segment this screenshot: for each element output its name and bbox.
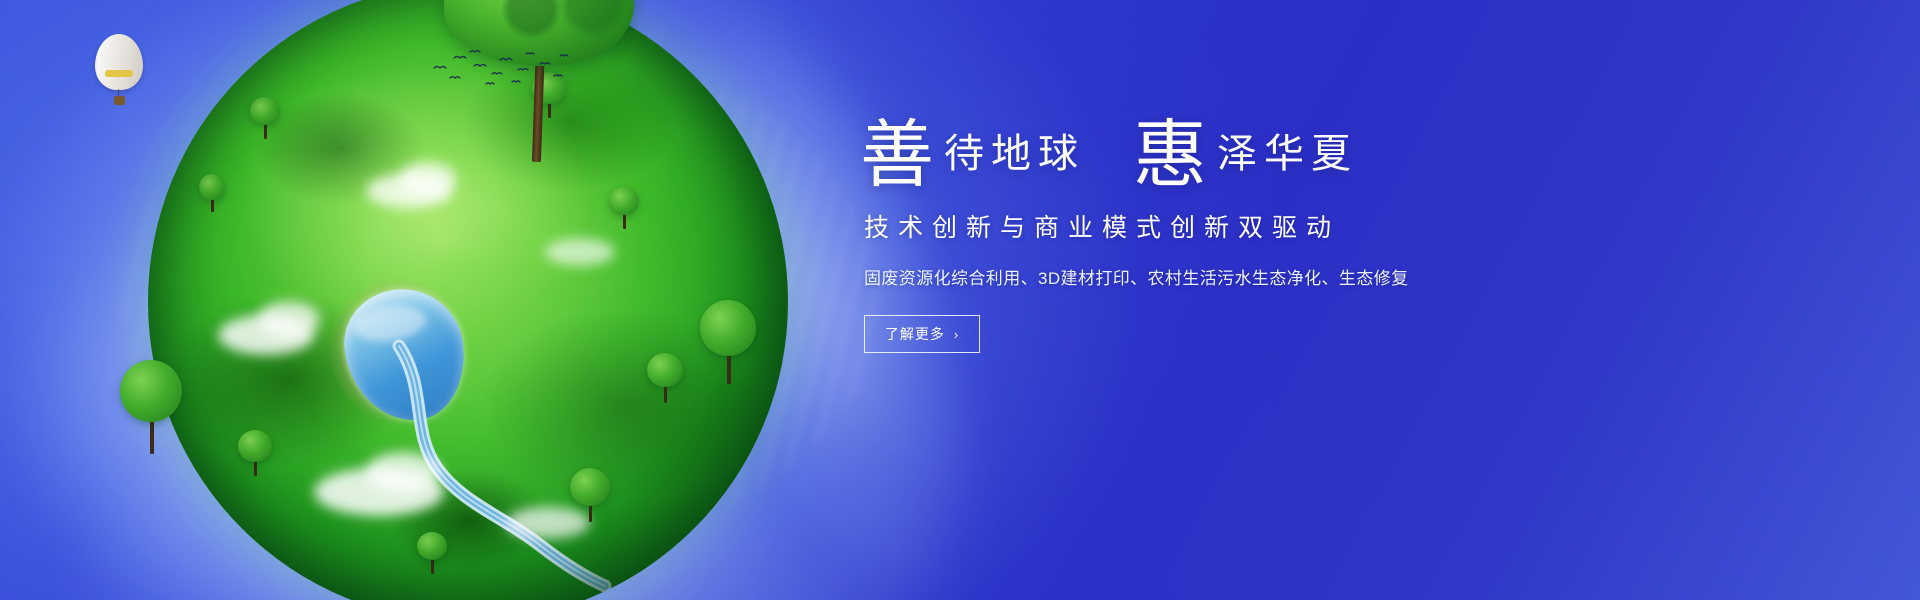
learn-more-button[interactable]: 了解更多 › — [864, 315, 980, 353]
tree-icon — [700, 300, 756, 386]
hero-subtitle: 技术创新与商业模式创新双驱动 — [860, 208, 1560, 244]
learn-more-label: 了解更多 — [885, 324, 945, 344]
birds-flock-icon — [430, 46, 570, 94]
hero-description: 固废资源化综合利用、3D建材打印、农村生活污水生态净化、生态修复 — [860, 264, 1560, 289]
headline-part1-small: 待地球 — [934, 134, 1085, 174]
page-title: 善 待地球 惠 泽华夏 — [860, 118, 1560, 186]
headline-part1-large: 善 — [860, 122, 934, 190]
hot-air-balloon-icon — [95, 34, 151, 112]
balloon-basket — [114, 96, 125, 105]
chevron-right-icon: › — [954, 328, 959, 341]
balloon-stripes — [95, 34, 143, 90]
headline-part2-small: 泽华夏 — [1207, 134, 1358, 174]
tree-icon — [120, 360, 182, 456]
hero-banner: 善 待地球 惠 泽华夏 技术创新与商业模式创新双驱动 固废资源化综合利用、3D建… — [0, 0, 1920, 600]
balloon-band — [105, 70, 133, 77]
headline-part2-large: 惠 — [1133, 122, 1207, 190]
hero-content: 善 待地球 惠 泽华夏 技术创新与商业模式创新双驱动 固废资源化综合利用、3D建… — [860, 118, 1560, 353]
